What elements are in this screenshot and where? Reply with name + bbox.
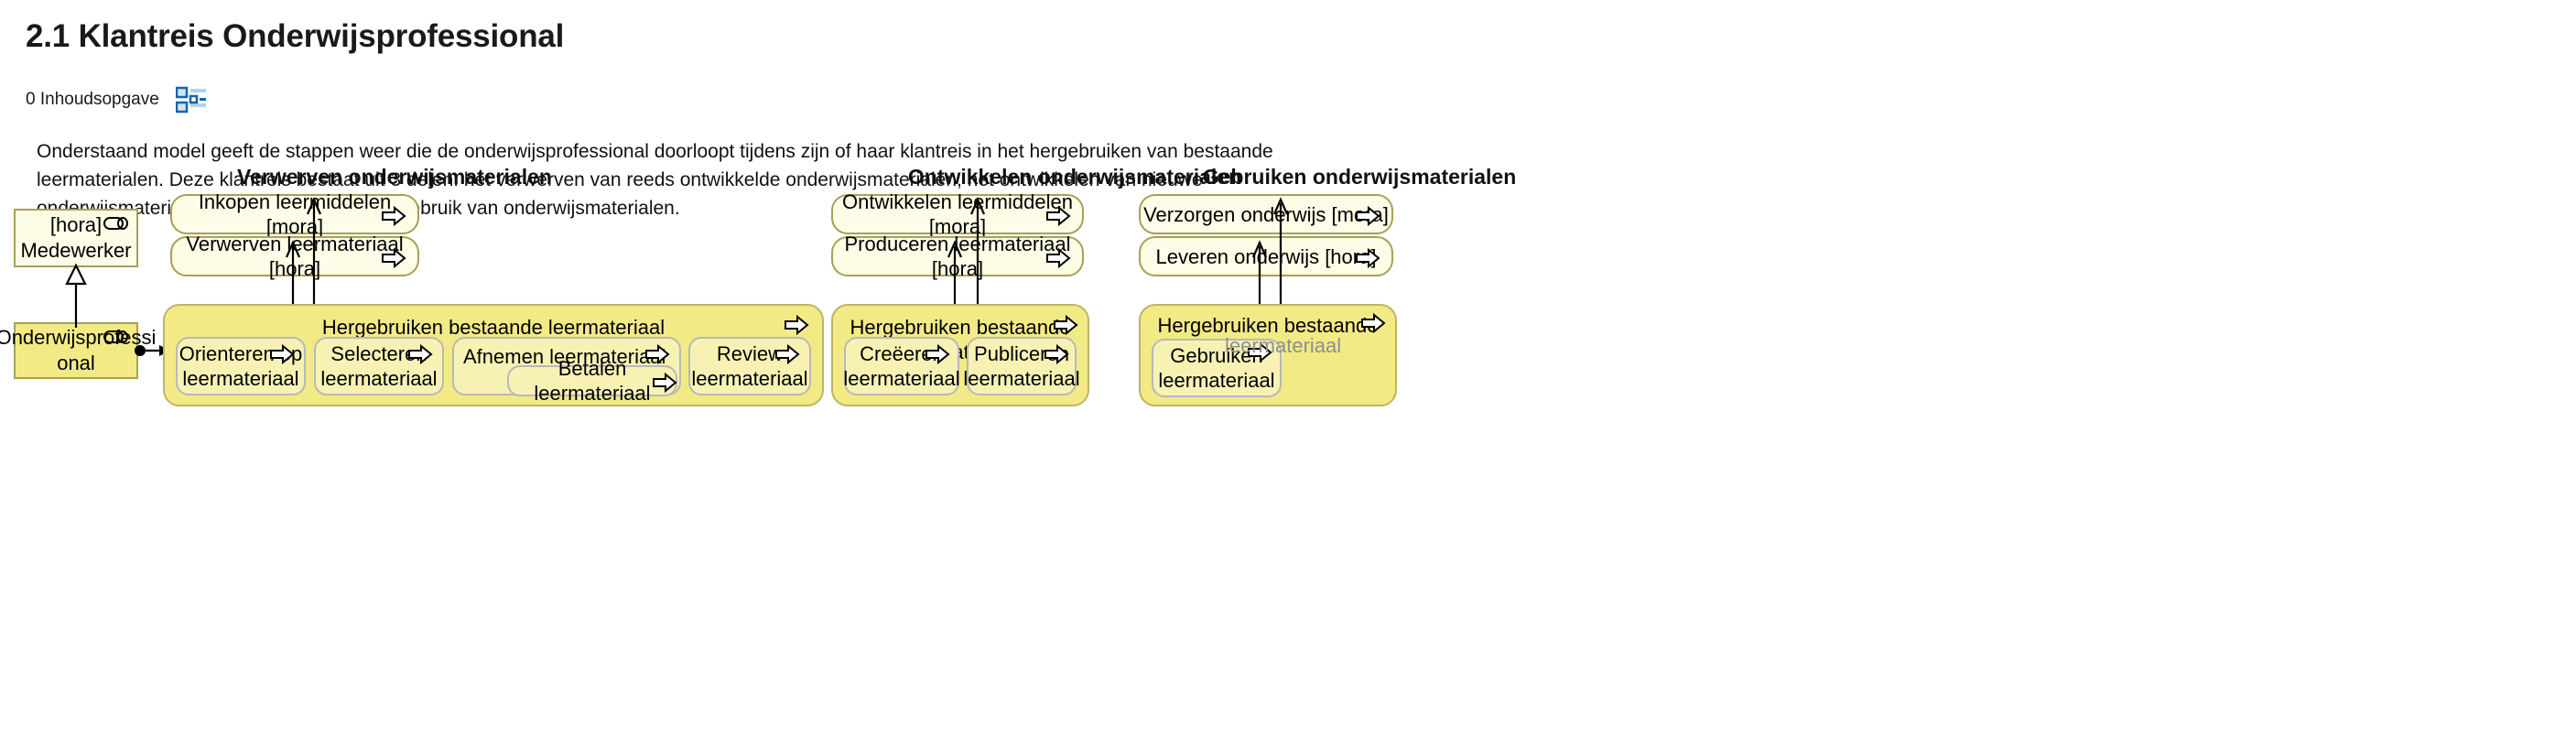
process-arrow-icon: [652, 373, 677, 393]
subprocess-afnemen-leermateriaal[interactable]: Afnemen leermateriaal Betalen leermateri…: [452, 337, 681, 395]
process-arrow-icon: [1247, 342, 1272, 363]
process-arrow-icon: [1360, 313, 1386, 333]
realization-arrow-gebruiken-long: [1267, 190, 1304, 308]
process-arrow-icon: [1355, 248, 1380, 268]
process-arrow-icon: [407, 344, 433, 364]
realization-arrow-ontwikkelen-long: [964, 190, 1001, 308]
process-arrow-icon: [774, 344, 800, 364]
process-ontwikkelen-leermiddelen[interactable]: Ontwikkelen leermiddelen [mora]: [831, 194, 1084, 234]
column-title-gebruiken: Gebruiken onderwijsmaterialen: [1144, 165, 1575, 189]
process-inkopen-leermiddelen[interactable]: Inkopen leermiddelen [mora]: [170, 194, 419, 234]
actor-medewerker[interactable]: [hora] Medewerker: [14, 209, 138, 267]
process-arrow-icon: [269, 344, 295, 364]
archimate-diagram: Verwerven onderwijsmaterialen Ontwikkele…: [0, 0, 2576, 736]
group-hergebruiken-verwerven[interactable]: Hergebruiken bestaande leermateriaal Ori…: [163, 304, 824, 406]
column-title-verwerven: Verwerven onderwijsmaterialen: [179, 165, 610, 189]
specialization-edge: [55, 264, 101, 328]
subprocess-review-leermateriaal[interactable]: Review leermateriaal: [688, 337, 811, 395]
subprocess-label: Betalen leermateriaal: [509, 356, 676, 406]
subprocess-betalen-leermateriaal[interactable]: Betalen leermateriaal: [507, 365, 677, 396]
process-arrow-icon: [381, 248, 406, 268]
process-arrow-icon: [381, 206, 406, 226]
business-role-icon: [103, 329, 131, 345]
actor-onderwijsprofessional-label-line1: Onderwijsprofessi: [0, 325, 156, 351]
actor-medewerker-label-line2: Medewerker: [20, 238, 131, 264]
actor-onderwijsprofessional-label-line2: onal: [57, 351, 95, 376]
actor-onderwijsprofessional[interactable]: Onderwijsprofessi onal: [14, 322, 138, 379]
subprocess-publiceren-leermateriaal[interactable]: Publiceren leermateriaal: [967, 337, 1077, 395]
process-arrow-icon: [925, 344, 950, 364]
process-arrow-icon: [784, 315, 809, 335]
group-hergebruiken-ontwikkelen[interactable]: Hergebruiken bestaande leermateriaal Cre…: [831, 304, 1089, 406]
subprocess-creeeren-leermateriaal[interactable]: Creëeren leermateriaal: [844, 337, 959, 395]
group-title: Hergebruiken bestaande leermateriaal: [165, 315, 822, 340]
group-title: Hergebruiken bestaande: [1141, 313, 1395, 338]
business-role-icon: [103, 215, 131, 232]
process-arrow-icon: [1053, 315, 1078, 335]
process-verzorgen-onderwijs[interactable]: Verzorgen onderwijs [mora]: [1139, 194, 1393, 234]
actor-medewerker-label-line1: [hora]: [50, 212, 102, 238]
process-arrow-icon: [1355, 206, 1380, 226]
process-arrow-icon: [1045, 248, 1071, 268]
subprocess-gebruiken-leermateriaal[interactable]: Gebruiken leermateriaal: [1152, 339, 1282, 397]
subprocess-selecteren-leermateriaal[interactable]: Selecteren leermateriaal: [314, 337, 444, 395]
process-label: Verzorgen onderwijs [mora]: [1143, 202, 1389, 227]
process-arrow-icon: [1045, 206, 1071, 226]
realization-arrow-verwerven-long: [300, 190, 337, 308]
group-hergebruiken-gebruiken[interactable]: Hergebruiken bestaande Gebruiken leermat…: [1139, 304, 1397, 406]
process-arrow-icon: [1044, 344, 1069, 364]
subprocess-orienteren-op-leermateriaal[interactable]: Orienteren op leermateriaal: [176, 337, 306, 395]
